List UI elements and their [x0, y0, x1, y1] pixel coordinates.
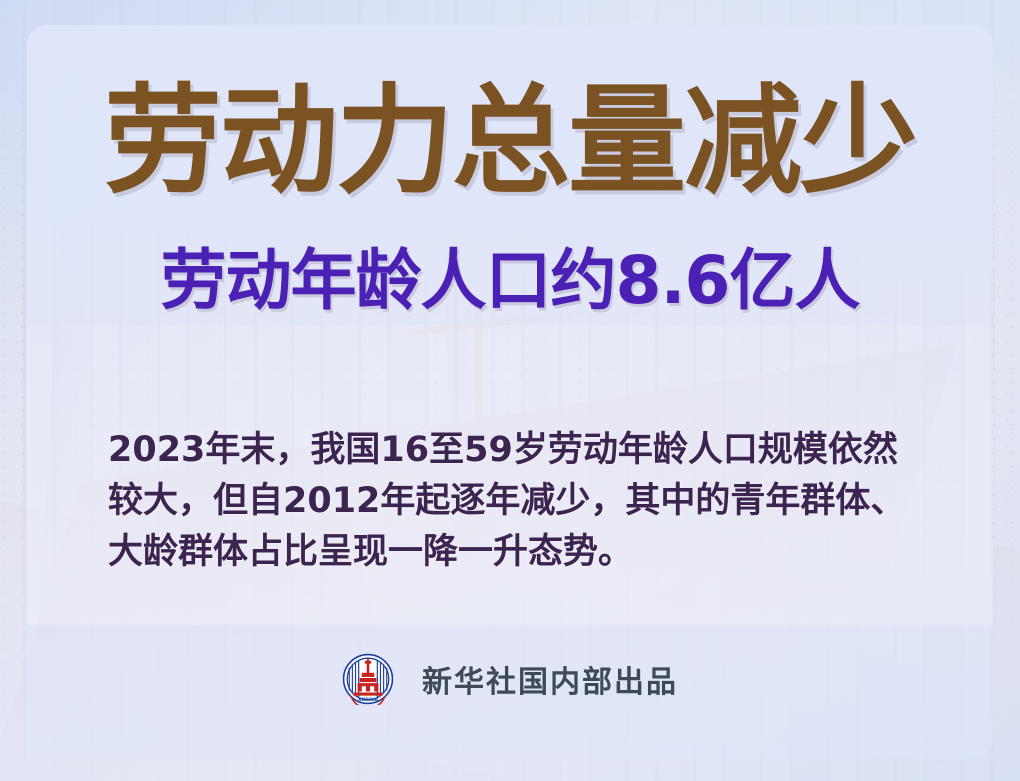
poster-footer: XINHUA 新华社国内部出品	[0, 653, 1020, 705]
poster-subheadline: 劳动年龄人口约8.6亿人	[0, 248, 1020, 314]
infographic-poster: 劳动力总量减少 劳动年龄人口约8.6亿人 2023年末，我国16至59岁劳动年龄…	[0, 0, 1020, 781]
poster-headline: 劳动力总量减少	[0, 82, 1020, 200]
xinhua-news-agency-logo: XINHUA	[342, 653, 394, 705]
logo-wordmark: XINHUA	[358, 697, 379, 703]
poster-body-paragraph: 2023年末，我国16至59岁劳动年龄人口规模依然较大，但自2012年起逐年减少…	[108, 425, 920, 578]
footer-attribution-text: 新华社国内部出品	[422, 657, 678, 701]
poster-content: 劳动力总量减少 劳动年龄人口约8.6亿人 2023年末，我国16至59岁劳动年龄…	[0, 0, 1020, 781]
